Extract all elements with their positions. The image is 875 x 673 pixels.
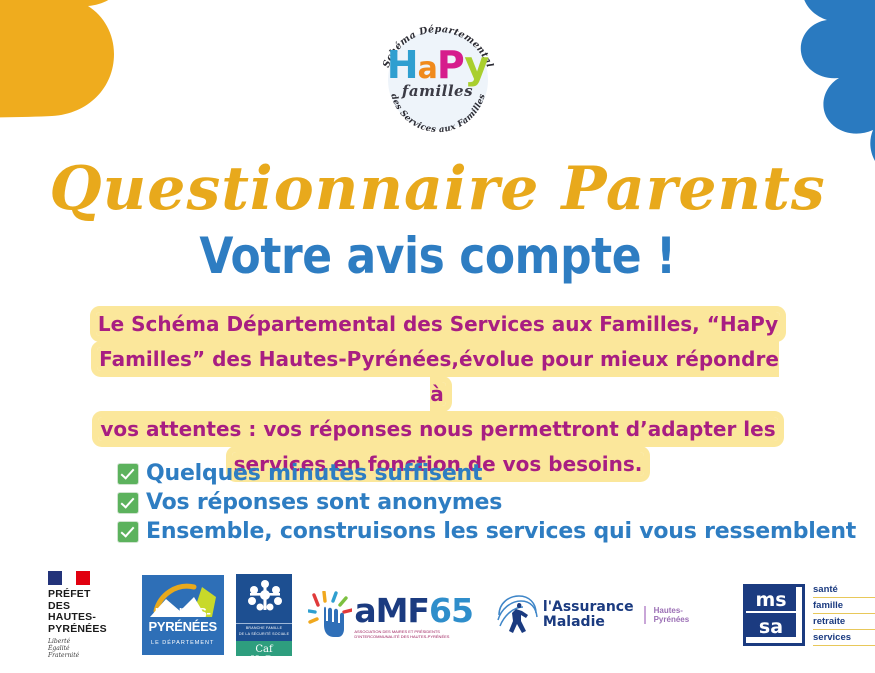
paragraph-line-text: Familles” des Hautes-Pyrénées,évolue pou…	[97, 347, 779, 406]
prefet-label: PRÉFET DES HAUTES- PYRÉNÉES	[48, 589, 120, 635]
partner-logos-strip: PRÉFET DES HAUTES- PYRÉNÉES Liberté Égal…	[0, 563, 875, 667]
prefet-line-3: PYRÉNÉES	[48, 624, 120, 636]
motto-fraternite: Fraternité	[48, 652, 120, 659]
logo-subword-familles: familles	[376, 82, 500, 100]
amf-wordmark: aMF65	[354, 594, 473, 627]
paragraph-line: Le Schéma Départemental des Services aux…	[88, 307, 788, 342]
msa-value-famille: famille	[813, 599, 875, 614]
paragraph-line: Familles” des Hautes-Pyrénées,évolue pou…	[88, 342, 788, 412]
paragraph-line-text: Le Schéma Départemental des Services aux…	[96, 312, 780, 336]
list-item: Ensemble, construisons les services qui …	[117, 520, 856, 544]
checkmark-icon	[117, 521, 139, 543]
logo-caf-hapy: BRANCHE FAMILLE DE LA SÉCURITÉ SOCIALE C…	[236, 574, 293, 656]
logo-letter-y: y	[464, 43, 488, 87]
caf-branch-text: BRANCHE FAMILLE DE LA SÉCURITÉ SOCIALE	[236, 623, 293, 641]
list-item: Vos réponses sont anonymes	[117, 491, 856, 515]
caf-name: Caf HaPy	[236, 641, 293, 656]
checklist-label: Ensemble, construisons les services qui …	[146, 520, 856, 544]
caf-hapy-label: HaPy	[236, 655, 293, 656]
logo-assurance-maladie: l'Assurance Maladie	[495, 593, 634, 637]
logo-letter-a: a	[418, 51, 437, 86]
amf-tagline: ASSOCIATION DES MAIRES ET PRÉSIDENTS D’I…	[354, 629, 459, 639]
amf-letters: aMF	[354, 591, 429, 630]
prefet-line-1: PRÉFET	[48, 589, 120, 601]
amf-number: 65	[429, 591, 473, 630]
hapy-familles-logo: Schéma Départemental des Services aux Fa…	[0, 18, 875, 142]
msa-value-sante: santé	[813, 583, 875, 598]
departement-label: HAUTES- PYRÉNÉES LE DÉPARTEMENT	[142, 606, 224, 650]
motto-liberte: Liberté	[48, 638, 120, 645]
checklist-label: Vos réponses sont anonymes	[146, 491, 502, 515]
prefet-line-2: DES HAUTES-	[48, 601, 120, 624]
caf-emblem	[236, 574, 293, 623]
logo-prefet-hautes-pyrenees: PRÉFET DES HAUTES- PYRÉNÉES Liberté Égal…	[48, 571, 120, 659]
assurance-line-1: l'Assurance	[543, 600, 634, 615]
logo-letter-h: H	[387, 43, 418, 87]
caf-label: Caf	[236, 644, 293, 655]
msa-monogram: ms sa	[743, 584, 805, 646]
msa-value-retraite: retraite	[813, 615, 875, 630]
logo-hautes-pyrenees-departement: HAUTES- PYRÉNÉES LE DÉPARTEMENT	[142, 575, 224, 655]
benefits-checklist: Quelques minutes suffisent Vos réponses …	[117, 462, 856, 549]
paragraph-line-text: vos attentes : vos réponses nous permett…	[98, 417, 777, 441]
caf-mid-line-2: DE LA SÉCURITÉ SOCIALE	[236, 632, 293, 638]
svg-text:sa: sa	[759, 616, 783, 637]
msa-value-services: services	[813, 631, 875, 646]
page-subtitle: Votre avis compte !	[53, 228, 823, 284]
checkmark-icon	[117, 492, 139, 514]
poster-canvas: Schéma Départemental des Services aux Fa…	[0, 0, 875, 673]
list-item: Quelques minutes suffisent	[117, 462, 856, 486]
logo-letter-p: P	[437, 43, 465, 87]
caf-star-icon	[236, 574, 293, 618]
dept-tagline: LE DÉPARTEMENT	[142, 636, 224, 650]
motto-egalite: Égalité	[48, 645, 120, 652]
hand-burst-icon	[308, 591, 352, 639]
paragraph-line: vos attentes : vos réponses nous permett…	[88, 412, 788, 447]
assurance-region-label: Hautes-Pyrénées	[644, 606, 717, 624]
prefet-motto: Liberté Égalité Fraternité	[48, 638, 120, 659]
assurance-maladie-icon	[495, 593, 539, 637]
dept-line-2: PYRÉNÉES	[148, 619, 216, 634]
msa-letters-icon: ms sa	[746, 587, 796, 637]
msa-values-list: santé famille retraite services	[813, 583, 875, 647]
logo-msa: ms sa santé famille retraite services	[743, 583, 875, 647]
assurance-maladie-label: l'Assurance Maladie	[543, 600, 634, 630]
assurance-line-2: Maladie	[543, 615, 634, 630]
svg-text:ms: ms	[755, 589, 786, 611]
page-title: Questionnaire Parents	[0, 158, 875, 220]
intro-paragraph: Le Schéma Départemental des Services aux…	[88, 307, 788, 482]
french-flag-icon	[48, 571, 90, 585]
checkmark-icon	[117, 463, 139, 485]
checklist-label: Quelques minutes suffisent	[146, 462, 482, 486]
logo-amf65: aMF65 ASSOCIATION DES MAIRES ET PRÉSIDEN…	[308, 591, 473, 639]
dept-line-1: HAUTES-	[155, 605, 211, 620]
